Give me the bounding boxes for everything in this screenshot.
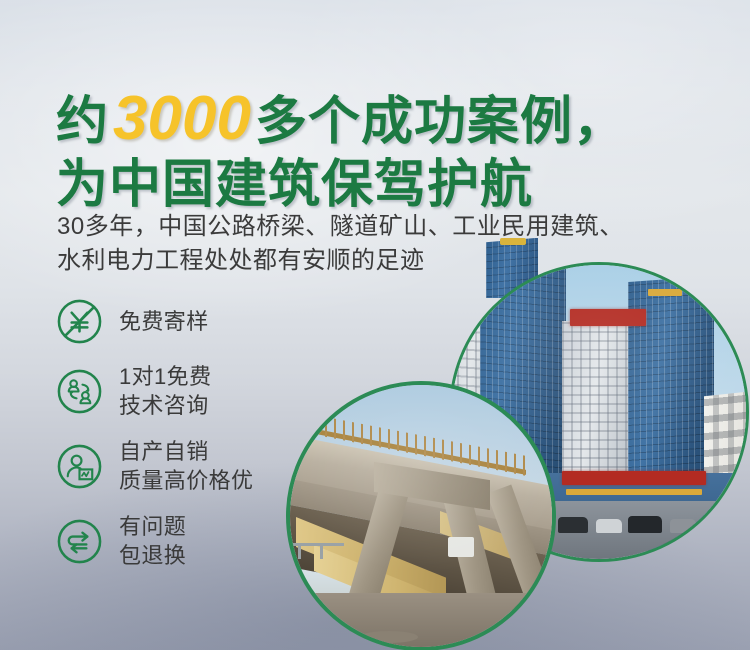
feature-line-2: 包退换 [119,543,186,568]
headline-line-1: 约3000多个成功案例， [56,82,736,155]
subheading-line-1: 30多年，中国公路桥梁、隧道矿山、工业民用建筑、 [57,210,727,244]
headline: 约3000多个成功案例， 为中国建筑保驾护航 [56,82,736,217]
feature-label: 自产自销 质量高价格优 [119,437,253,495]
return-exchange-icon [56,518,103,565]
promo-banner: 约3000多个成功案例， 为中国建筑保驾护航 30多年，中国公路桥梁、隧道矿山、… [0,0,750,650]
self-production-sales-icon [56,443,103,490]
feature-item-production: 自产自销 质量高价格优 [56,437,356,495]
feature-label: 免费寄样 [119,307,209,336]
free-sample-icon [56,298,103,345]
headline-suffix: 多个成功案例， [255,93,626,151]
feature-label: 1对1免费 技术咨询 [119,362,211,420]
feature-item-consultation: 1对1免费 技术咨询 [56,362,356,420]
feature-list: 免费寄样 1对1免费 技术咨询 [56,298,356,587]
headline-number: 3000 [109,84,255,153]
feature-line-1: 1对1免费 [119,364,211,389]
feature-item-return-exchange: 有问题 包退换 [56,512,356,570]
one-on-one-consult-icon [56,368,103,415]
feature-line-1: 免费寄样 [119,309,209,334]
feature-line-2: 质量高价格优 [119,468,253,493]
feature-item-free-sample: 免费寄样 [56,298,356,345]
feature-label: 有问题 包退换 [119,512,186,570]
headline-prefix: 约 [56,93,109,151]
feature-line-1: 自产自销 [119,439,209,464]
feature-line-1: 有问题 [119,514,186,539]
headline-line-2: 为中国建筑保驾护航 [56,155,736,216]
feature-line-2: 技术咨询 [119,393,209,418]
